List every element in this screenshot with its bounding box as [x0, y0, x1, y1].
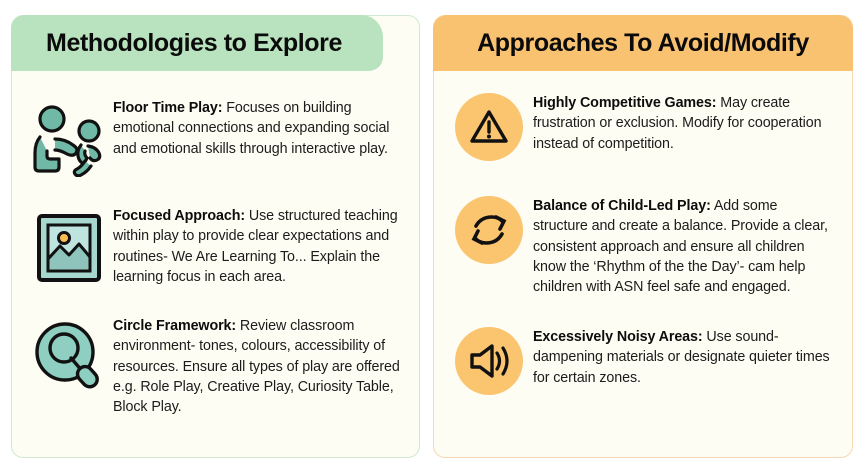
left-panel-title: Methodologies to Explore	[11, 31, 383, 56]
list-item: Highly Competitive Games: May create fru…	[445, 93, 851, 161]
list-item: Excessively Noisy Areas: Use sound-dampe…	[445, 327, 851, 395]
two-column-infographic: Methodologies to Explore	[0, 0, 864, 474]
list-item: Focused Approach: Use structured teachin…	[25, 206, 410, 290]
list-item-lead: Focused Approach:	[113, 208, 245, 224]
methodologies-panel: Methodologies to Explore	[11, 15, 420, 458]
list-item-lead: Highly Competitive Games:	[533, 95, 716, 111]
list-item-text: Focused Approach: Use structured teachin…	[113, 206, 403, 287]
list-item-text: Circle Framework: Review classroom envir…	[113, 316, 403, 417]
exchange-arrows-icon	[455, 196, 523, 264]
right-panel-header: Approaches To Avoid/Modify	[433, 15, 853, 71]
list-item: Circle Framework: Review classroom envir…	[25, 316, 410, 417]
right-panel-title: Approaches To Avoid/Modify	[433, 31, 853, 56]
speaker-loud-icon	[455, 327, 523, 395]
list-item-lead: Excessively Noisy Areas:	[533, 329, 703, 345]
list-item: Balance of Child-Led Play: Add some stru…	[445, 196, 851, 297]
picture-frame-icon	[25, 206, 113, 290]
magnifier-circle-icon	[25, 316, 113, 400]
list-item-lead: Floor Time Play:	[113, 100, 222, 116]
list-item-text: Excessively Noisy Areas: Use sound-dampe…	[533, 327, 833, 388]
approaches-to-avoid-panel: Approaches To Avoid/Modify Highly Compet…	[433, 15, 853, 458]
exchange-arrows-icon-wrap	[445, 196, 533, 264]
list-item-text: Floor Time Play: Focuses on building emo…	[113, 98, 403, 159]
list-item: Floor Time Play: Focuses on building emo…	[25, 98, 410, 182]
speaker-loud-icon-wrap	[445, 327, 533, 395]
left-panel-items: Floor Time Play: Focuses on building emo…	[11, 71, 420, 458]
two-people-playing-icon	[25, 98, 113, 182]
right-panel-items: Highly Competitive Games: May create fru…	[433, 71, 853, 458]
warning-triangle-icon	[455, 93, 523, 161]
list-item-lead: Circle Framework:	[113, 318, 236, 334]
left-panel-header: Methodologies to Explore	[11, 15, 383, 71]
list-item-text: Highly Competitive Games: May create fru…	[533, 93, 833, 154]
list-item-text: Balance of Child-Led Play: Add some stru…	[533, 196, 833, 297]
warning-triangle-icon-wrap	[445, 93, 533, 161]
list-item-lead: Balance of Child-Led Play:	[533, 198, 711, 214]
